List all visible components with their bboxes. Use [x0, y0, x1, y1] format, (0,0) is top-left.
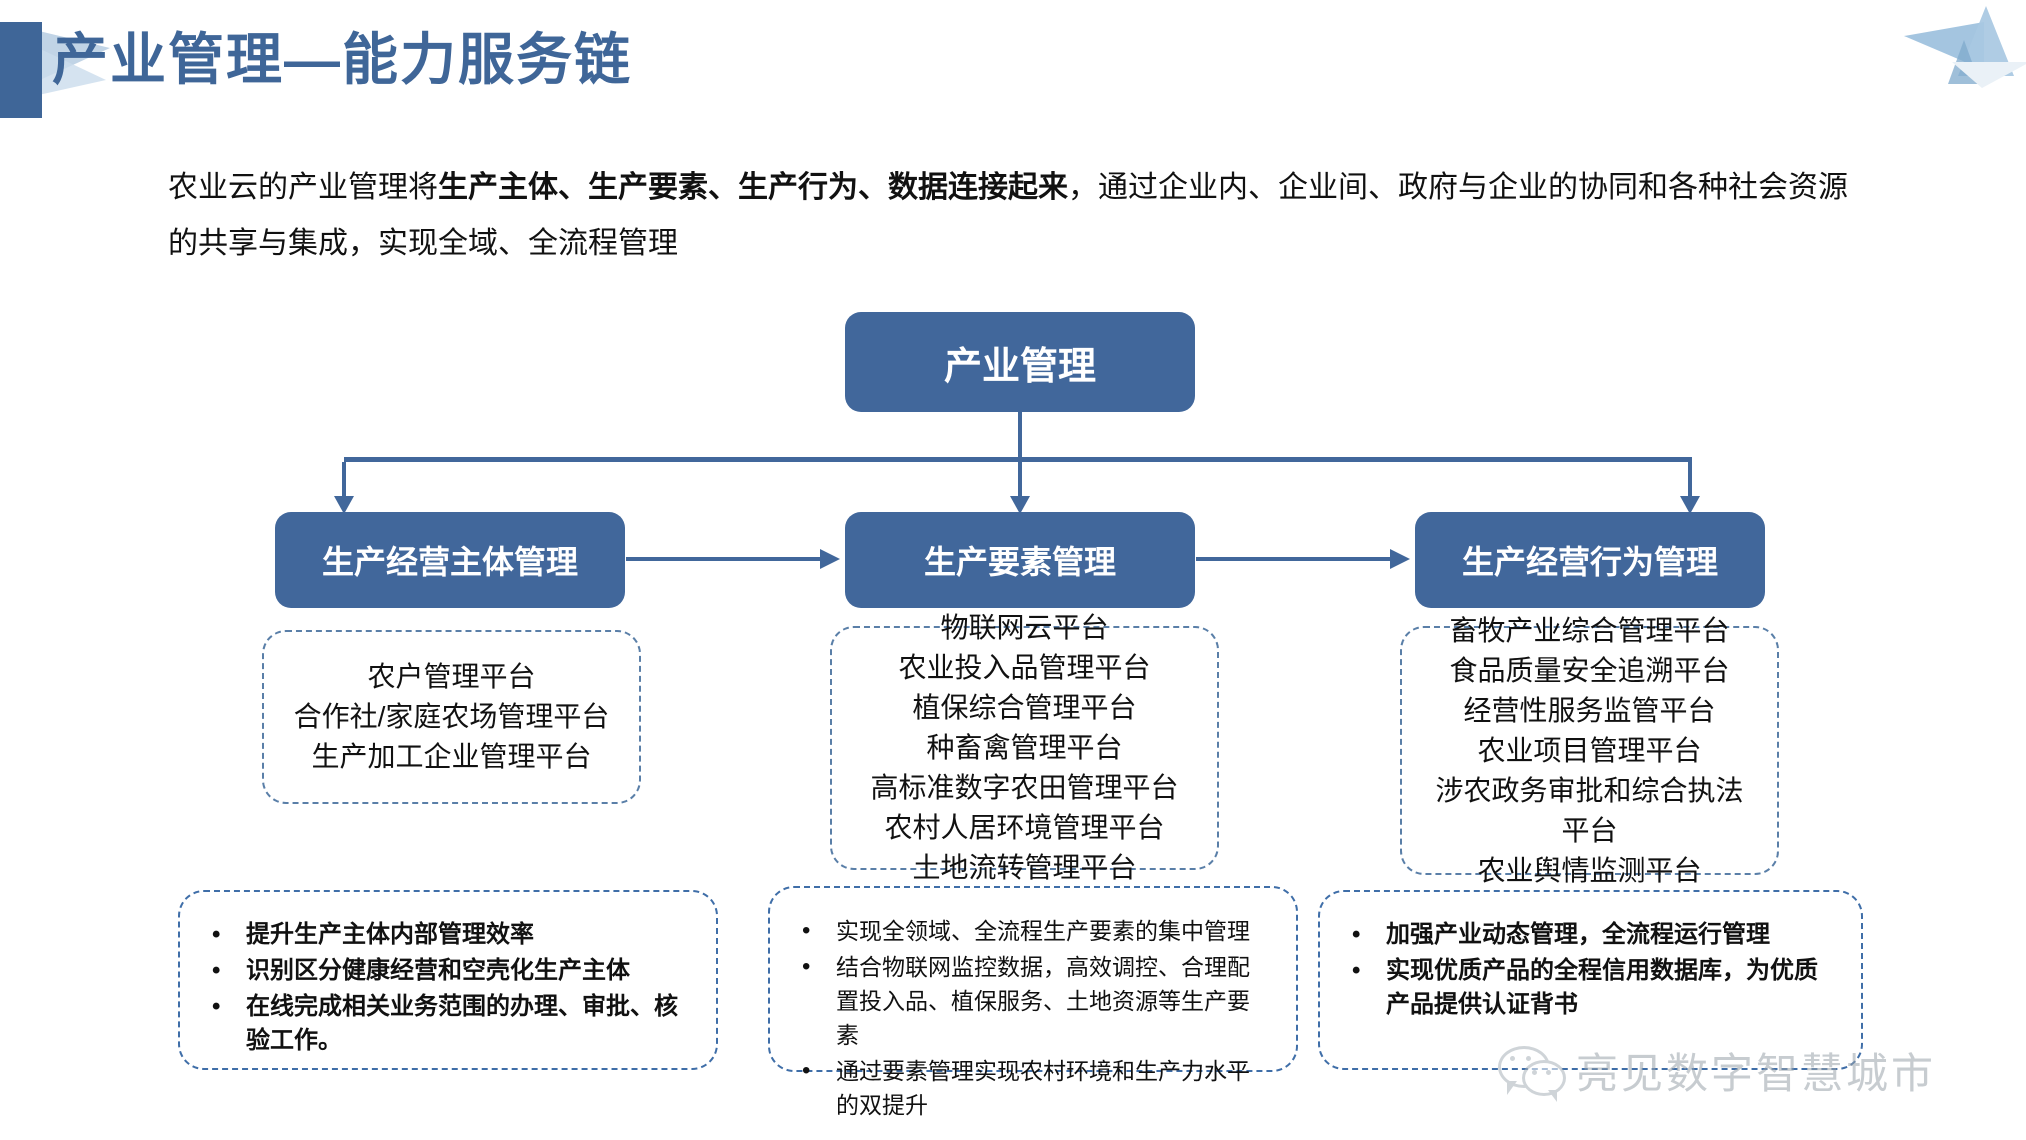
node-branch-1[interactable]: 生产经营主体管理 [275, 512, 625, 608]
platform-item: 植保综合管理平台 [912, 688, 1136, 728]
platform-list-3: 畜牧产业综合管理平台 食品质量安全追溯平台 经营性服务监管平台 农业项目管理平台… [1400, 626, 1779, 875]
platform-item: 农业投入品管理平台 [898, 648, 1150, 688]
list-item: 实现优质产品的全程信用数据库，为优质产品提供认证背书 [1346, 954, 1831, 1022]
benefits-box-2: 实现全领域、全流程生产要素的集中管理 结合物联网监控数据，高效调控、合理配置投入… [768, 886, 1298, 1072]
connector-drop-1 [342, 462, 346, 500]
list-item: 通过要素管理实现农村环境和生产力水平的双提升 [796, 1054, 1266, 1122]
platform-item: 食品质量安全追溯平台 [1449, 651, 1729, 691]
platform-item: 种畜禽管理平台 [926, 728, 1122, 768]
platform-item: 农业项目管理平台 [1477, 731, 1701, 771]
platform-item: 涉农政务审批和综合执法 [1435, 771, 1743, 811]
node-root-industry-management[interactable]: 产业管理 [845, 312, 1195, 412]
platform-item: 畜牧产业综合管理平台 [1449, 611, 1729, 651]
platform-list-2: 物联网云平台 农业投入品管理平台 植保综合管理平台 种畜禽管理平台 高标准数字农… [830, 626, 1219, 870]
platform-item: 农户管理平台 [367, 657, 535, 697]
watermark-text: 亮见数字智慧城市 [1576, 1040, 1936, 1101]
watermark: 亮见数字智慧城市 [1498, 1030, 2018, 1110]
arrow-right-icon-1 [820, 549, 840, 569]
node-branch-2[interactable]: 生产要素管理 [845, 512, 1195, 608]
list-item: 结合物联网监控数据，高效调控、合理配置投入品、植保服务、土地资源等生产要素 [796, 950, 1266, 1052]
platform-item: 经营性服务监管平台 [1463, 691, 1715, 731]
list-item: 实现全领域、全流程生产要素的集中管理 [796, 914, 1266, 948]
platform-list-1: 农户管理平台 合作社/家庭农场管理平台 生产加工企业管理平台 [262, 630, 641, 804]
platform-item: 物联网云平台 [940, 608, 1108, 648]
platform-item: 农业舆情监测平台 [1477, 851, 1701, 891]
platform-item: 平台 [1561, 811, 1617, 851]
connector-root-vertical [1018, 412, 1022, 460]
capability-service-chain-diagram: 产业管理 生产经营主体管理 生产要素管理 生产经营行为管理 农户管理平台 合作社… [0, 0, 2026, 1140]
list-item: 加强产业动态管理，全流程运行管理 [1346, 918, 1831, 952]
platform-item: 生产加工企业管理平台 [311, 737, 591, 777]
platform-item: 土地流转管理平台 [912, 848, 1136, 888]
connector-drop-3 [1688, 462, 1692, 500]
wechat-icon [1498, 1044, 1564, 1096]
connector-arrow-1-2 [626, 557, 822, 561]
connector-drop-2 [1018, 462, 1022, 500]
benefits-box-1: 提升生产主体内部管理效率 识别区分健康经营和空壳化生产主体 在线完成相关业务范围… [178, 890, 718, 1070]
arrow-right-icon-2 [1390, 549, 1410, 569]
list-item: 提升生产主体内部管理效率 [206, 918, 686, 952]
platform-item: 高标准数字农田管理平台 [870, 768, 1178, 808]
node-branch-3[interactable]: 生产经营行为管理 [1415, 512, 1765, 608]
platform-item: 农村人居环境管理平台 [884, 808, 1164, 848]
connector-arrow-2-3 [1196, 557, 1392, 561]
list-item: 识别区分健康经营和空壳化生产主体 [206, 954, 686, 988]
list-item: 在线完成相关业务范围的办理、审批、核验工作。 [206, 990, 686, 1058]
platform-item: 合作社/家庭农场管理平台 [294, 697, 610, 737]
